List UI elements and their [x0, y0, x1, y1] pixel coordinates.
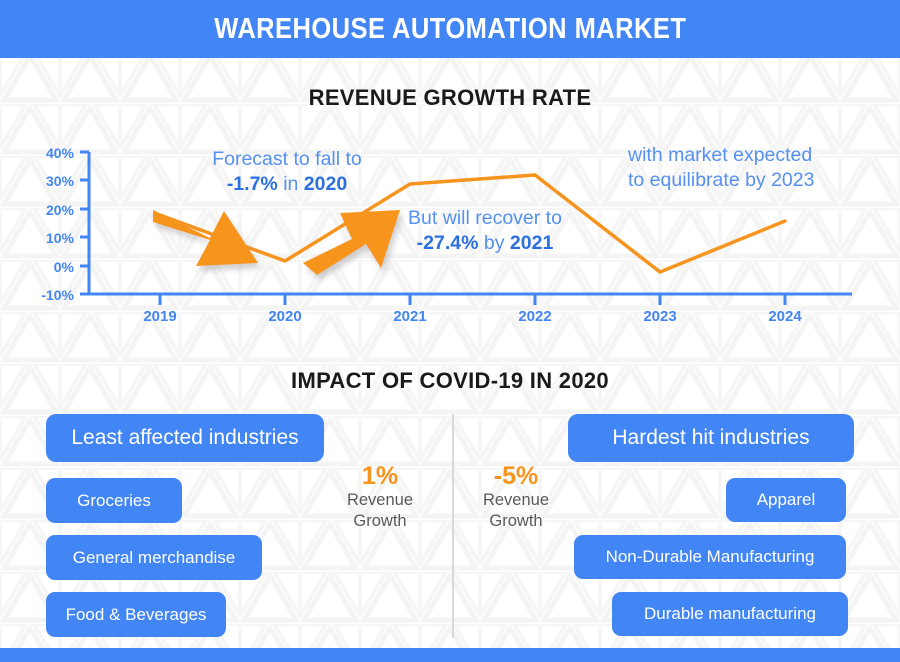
infographic-root: WAREHOUSE AUTOMATION MARKET REVENUE GROW… — [0, 0, 900, 662]
annotation-forecast-fall: Forecast to fall to -1.7% in 2020 — [172, 147, 402, 197]
hardest-hit-item-non-durable-manufacturing: Non-Durable Manufacturing — [574, 535, 846, 579]
least-affected-stat-label-2: Growth — [320, 511, 440, 532]
hardest-hit-stat: -5% Revenue Growth — [456, 462, 576, 532]
chart-section-title: REVENUE GROWTH RATE — [0, 85, 900, 111]
svg-text:30%: 30% — [46, 173, 75, 189]
annotation-fall-value: -1.7% — [227, 173, 278, 195]
annotation-recover-line1: But will recover to — [408, 207, 562, 229]
svg-text:2024: 2024 — [768, 308, 802, 325]
svg-text:2020: 2020 — [268, 308, 301, 325]
annotation-equil-line2: to equilibrate by 2023 — [628, 169, 814, 191]
svg-text:2021: 2021 — [393, 308, 426, 325]
header-bar: WAREHOUSE AUTOMATION MARKET — [0, 0, 900, 58]
down-arrow-graphic — [153, 210, 258, 266]
svg-text:20%: 20% — [46, 202, 75, 218]
least-affected-stat: 1% Revenue Growth — [320, 462, 440, 532]
svg-text:2022: 2022 — [518, 308, 551, 325]
hardest-hit-item-apparel: Apparel — [726, 478, 846, 522]
annotation-fall-year: 2020 — [304, 173, 347, 195]
panel-divider — [452, 414, 454, 638]
least-affected-heading: Least affected industries — [46, 414, 324, 462]
hardest-hit-stat-label-2: Growth — [456, 511, 576, 532]
annotation-equil-line1: with market expected — [628, 144, 812, 166]
least-affected-stat-label-1: Revenue — [320, 490, 440, 511]
annotation-fall-mid: in — [283, 173, 298, 195]
svg-text:10%: 10% — [46, 230, 75, 246]
annotation-recover-value: -27.4% — [417, 232, 479, 254]
page-title: WAREHOUSE AUTOMATION MARKET — [214, 13, 686, 46]
least-affected-item-food-beverages: Food & Beverages — [46, 592, 226, 637]
covid-section-title: IMPACT OF COVID-19 IN 2020 — [0, 368, 900, 394]
least-affected-item-groceries: Groceries — [46, 478, 182, 523]
svg-text:2019: 2019 — [143, 308, 176, 325]
hardest-hit-stat-value: -5% — [456, 462, 576, 490]
annotation-equilibrate: with market expected to equilibrate by 2… — [628, 143, 868, 193]
svg-text:-10%: -10% — [41, 287, 74, 303]
hardest-hit-heading: Hardest hit industries — [568, 414, 854, 462]
annotation-recover-year: 2021 — [510, 232, 553, 254]
least-affected-item-general-merchandise: General merchandise — [46, 535, 262, 580]
svg-text:0%: 0% — [54, 259, 75, 275]
hardest-hit-stat-label-1: Revenue — [456, 490, 576, 511]
annotation-recover: But will recover to -27.4% by 2021 — [380, 206, 590, 256]
hardest-hit-item-durable-manufacturing: Durable manufacturing — [612, 592, 848, 636]
svg-text:2023: 2023 — [643, 308, 676, 325]
annotation-recover-mid: by — [484, 232, 505, 254]
svg-text:40%: 40% — [46, 145, 75, 161]
annotation-fall-line1: Forecast to fall to — [212, 148, 362, 170]
least-affected-stat-value: 1% — [320, 462, 440, 490]
footer-bar — [0, 648, 900, 662]
